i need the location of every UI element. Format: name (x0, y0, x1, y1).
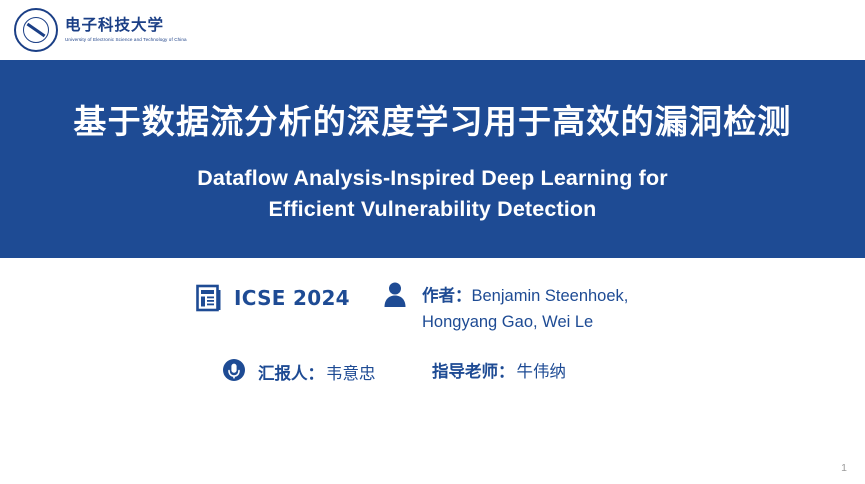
presentation-slide: 电子科技大学 University of Electronic Science … (0, 0, 865, 484)
university-seal-icon (14, 8, 58, 52)
venue-row: ICSE 2024 (196, 284, 350, 312)
advisor-row: 指导老师： 牛伟纳 (432, 358, 566, 382)
person-icon (382, 280, 408, 308)
authors-name-line2: Hongyang Gao, Wei Le (422, 310, 628, 335)
authors-label: 作者： (422, 286, 472, 305)
journal-icon (196, 284, 222, 312)
title-english: Dataflow Analysis-Inspired Deep Learning… (197, 163, 668, 224)
university-name-cn: 电子科技大学 (65, 17, 187, 35)
slide-meta: ICSE 2024 作者：Benjamin Steenhoek, Hongyan… (0, 258, 865, 484)
advisor-label: 指导老师： (432, 358, 515, 382)
university-logo-text: 电子科技大学 University of Electronic Science … (65, 17, 187, 44)
venue-label: ICSE 2024 (234, 286, 350, 310)
authors-row: 作者：Benjamin Steenhoek, Hongyang Gao, Wei… (382, 280, 628, 335)
speaker-row: 汇报人： 韦意忠 (222, 358, 376, 386)
title-chinese: 基于数据流分析的深度学习用于高效的漏洞检测 (73, 95, 791, 143)
speaker-name: 韦意忠 (326, 360, 376, 384)
university-logo: 电子科技大学 University of Electronic Science … (0, 0, 180, 60)
title-band: 基于数据流分析的深度学习用于高效的漏洞检测 Dataflow Analysis-… (0, 60, 865, 258)
title-english-line2: Efficient Vulnerability Detection (197, 194, 668, 225)
authors-line-1: 作者：Benjamin Steenhoek, (422, 282, 628, 309)
title-english-line1: Dataflow Analysis-Inspired Deep Learning… (197, 163, 668, 194)
page-number: 1 (841, 462, 847, 474)
microphone-icon (222, 358, 246, 386)
university-name-en: University of Electronic Science and Tec… (65, 37, 187, 43)
advisor-name: 牛伟纳 (517, 358, 567, 382)
authors-name-line1: Benjamin Steenhoek, (472, 287, 629, 305)
authors-block: 作者：Benjamin Steenhoek, Hongyang Gao, Wei… (422, 282, 628, 335)
speaker-label: 汇报人： (258, 360, 324, 384)
